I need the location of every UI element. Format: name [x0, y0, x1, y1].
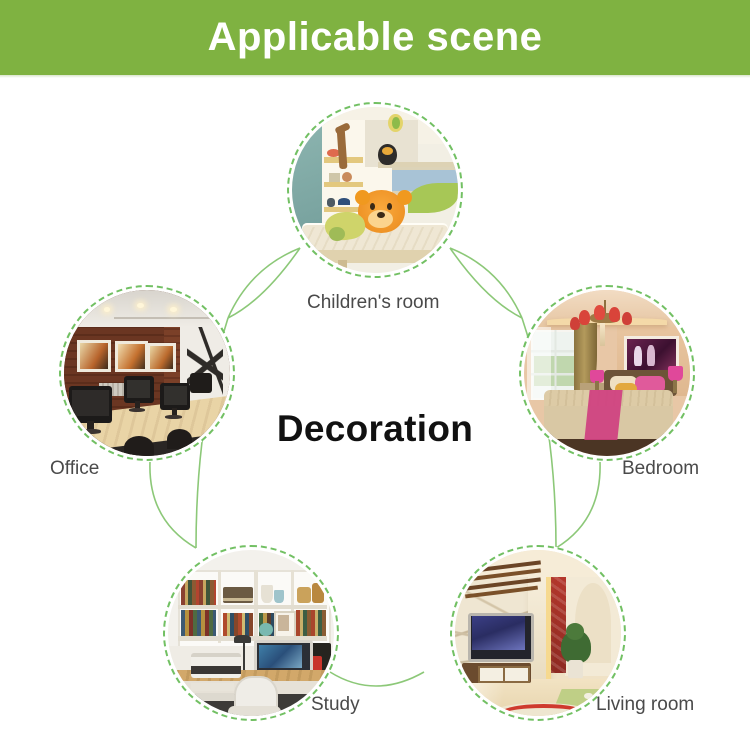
node-label-study: Study — [311, 694, 360, 716]
study-scene — [168, 550, 334, 716]
arc-children-office — [228, 248, 300, 318]
applicable-scene-infographic: Applicable scene Decoration — [0, 0, 750, 750]
node-label-office: Office — [50, 458, 99, 480]
node-office[interactable] — [59, 285, 235, 461]
node-label-living-room: Living room — [596, 694, 694, 716]
node-label-bedroom: Bedroom — [622, 458, 699, 480]
living-room-scene — [455, 550, 621, 716]
arc-ring-topleft — [228, 248, 300, 318]
office-scene — [64, 290, 230, 456]
children-room-photo — [292, 107, 458, 273]
arc-ring-topright — [450, 248, 522, 318]
bedroom-photo — [524, 290, 690, 456]
node-bedroom[interactable] — [519, 285, 695, 461]
node-children-room[interactable] — [287, 102, 463, 278]
living-room-photo — [455, 550, 621, 716]
arc-bedroom-living — [556, 462, 600, 548]
arc-study-living — [330, 672, 424, 686]
arc-office-study — [150, 462, 196, 548]
node-label-children-room: Children's room — [307, 292, 439, 314]
office-photo — [64, 290, 230, 456]
children-room-scene — [292, 107, 458, 273]
bedroom-scene — [524, 290, 690, 456]
study-photo — [168, 550, 334, 716]
arc-children-bedroom — [450, 248, 522, 318]
